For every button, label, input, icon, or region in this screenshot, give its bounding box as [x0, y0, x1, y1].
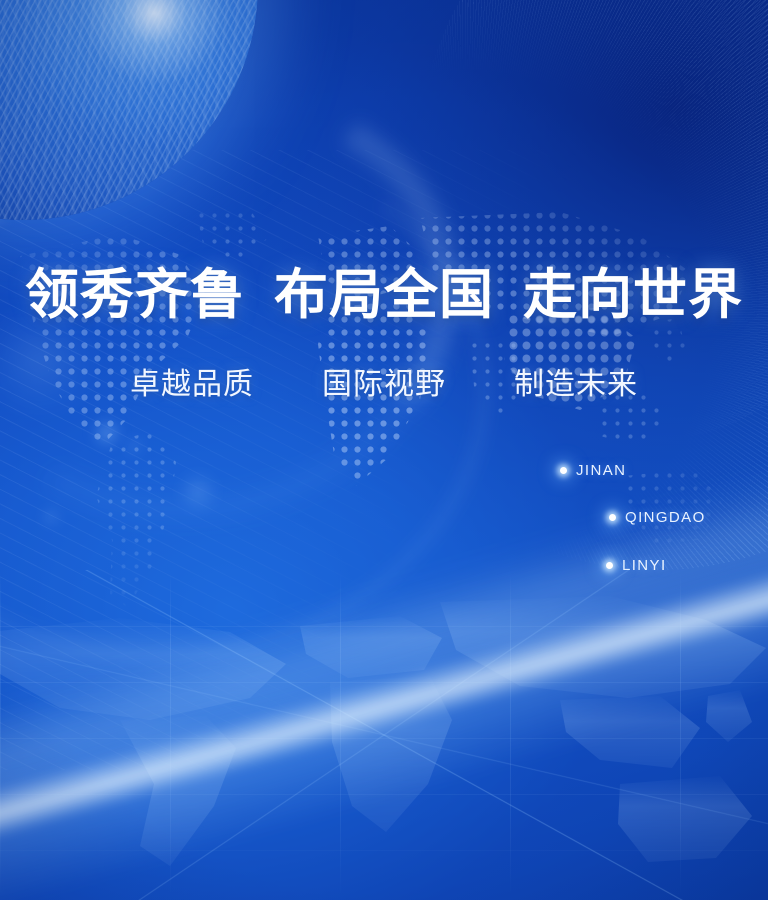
diagonal-ray-lines-icon	[0, 150, 680, 770]
globe-surface-texture	[0, 0, 258, 220]
bokeh-light	[92, 418, 122, 448]
city-label: LINYI	[622, 557, 667, 574]
globe-atmosphere-rim	[0, 0, 263, 225]
bokeh-light	[40, 506, 62, 528]
city-marker-jinan[interactable]: JINAN	[560, 462, 626, 479]
vignette-overlay	[0, 0, 768, 900]
page-title: 领秀齐鲁 布局全国 走向世界	[0, 268, 768, 322]
globe-icon	[0, 0, 258, 220]
bokeh-light	[176, 470, 220, 514]
city-marker-linyi[interactable]: LINYI	[606, 557, 667, 574]
globe-sphere	[0, 0, 258, 220]
ground-grid-lines	[0, 570, 768, 900]
city-marker-qingdao[interactable]: QINGDAO	[609, 509, 706, 526]
city-marker-dot-icon	[609, 514, 616, 521]
ground-diagonal-lines	[0, 570, 768, 900]
city-label: JINAN	[576, 462, 626, 479]
hero-banner: 领秀齐鲁 布局全国 走向世界 卓越品质 国际视野 制造未来 JINAN QING…	[0, 0, 768, 900]
perspective-world-map-icon	[0, 570, 768, 900]
bokeh-light	[126, 438, 142, 454]
globe-glow	[0, 0, 238, 230]
page-subtitle: 卓越品质 国际视野 制造未来	[0, 370, 768, 400]
light-beam-secondary-icon	[0, 427, 768, 868]
city-marker-dot-icon	[560, 467, 567, 474]
city-label: QINGDAO	[625, 509, 706, 526]
city-marker-dot-icon	[606, 562, 613, 569]
